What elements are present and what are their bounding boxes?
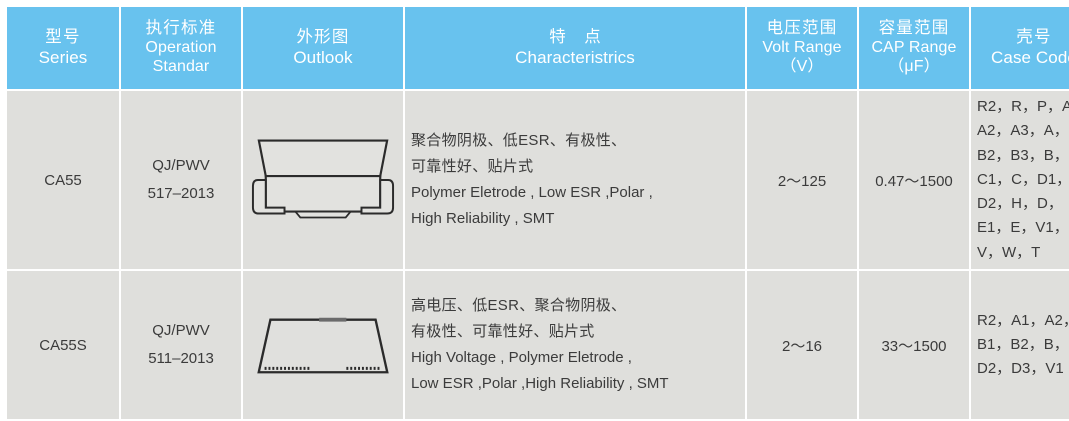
case-code-line: D2，H，D， xyxy=(977,192,1069,216)
column-header-volt-range-unit: （V） xyxy=(749,58,855,77)
cell-characteristics: 聚合物阴极、低ESR、有极性、 可靠性好、贴片式 Polymer Eletrod… xyxy=(405,91,745,269)
column-header-standard: 执行标准 Operation Standar xyxy=(121,7,241,89)
column-header-cap-range-en: CAP Range xyxy=(861,39,967,58)
cell-case-code: R2，A1，A2， B1，B2，B， D2，D3，V1 xyxy=(971,271,1069,419)
characteristics-line: 可靠性好、贴片式 xyxy=(411,154,739,180)
column-header-case-code: 壳号 Case Code xyxy=(971,7,1069,89)
cell-series: CA55 xyxy=(7,91,119,269)
standard-line: QJ/PWV xyxy=(127,317,235,345)
smd-chip-capacitor-3d-icon xyxy=(249,128,397,232)
characteristics-line: High Voltage , Polymer Eletrode , xyxy=(411,345,739,371)
table-body: CA55 QJ/PWV 517–2013 xyxy=(7,91,1069,419)
column-header-outlook-cn: 外形图 xyxy=(245,28,401,47)
characteristics-line: 高电压、低ESR、聚合物阴极、 xyxy=(411,293,739,319)
cell-outlook xyxy=(243,91,403,269)
standard-line: 517–2013 xyxy=(127,180,235,208)
column-header-standard-en2: Standar xyxy=(123,58,239,77)
column-header-outlook-en: Outlook xyxy=(245,48,401,68)
column-header-series: 型号 Series xyxy=(7,7,119,89)
characteristics-line: Polymer Eletrode , Low ESR ,Polar , xyxy=(411,180,739,206)
case-code-line: B1，B2，B， xyxy=(977,333,1069,357)
cell-outlook xyxy=(243,271,403,419)
column-header-series-en: Series xyxy=(9,48,117,68)
column-header-cap-range: 容量范围 CAP Range （μF） xyxy=(859,7,969,89)
cell-cap-range: 33～1500 xyxy=(859,271,969,419)
column-header-characteristics-cn: 特 点 xyxy=(407,28,743,47)
cell-case-code: R2，R，P，A1， A2，A3，A， B2，B3，B，I， C1，C，D1， … xyxy=(971,91,1069,269)
smd-chip-capacitor-top-icon xyxy=(249,303,397,387)
cell-standard: QJ/PWV 511–2013 xyxy=(121,271,241,419)
characteristics-line: High Reliability , SMT xyxy=(411,206,739,232)
header-row: 型号 Series 执行标准 Operation Standar 外形图 Out… xyxy=(7,7,1069,89)
column-header-case-code-en: Case Code xyxy=(973,48,1069,68)
cell-standard: QJ/PWV 517–2013 xyxy=(121,91,241,269)
column-header-standard-en: Operation xyxy=(123,39,239,58)
case-code-line: D2，D3，V1 xyxy=(977,357,1069,381)
column-header-characteristics: 特 点 Characteristrics xyxy=(405,7,745,89)
column-header-volt-range-cn: 电压范围 xyxy=(749,19,855,38)
outlook-image-wrap xyxy=(249,275,397,415)
column-header-standard-cn: 执行标准 xyxy=(123,19,239,38)
table-row: CA55 QJ/PWV 517–2013 xyxy=(7,91,1069,269)
column-header-outlook: 外形图 Outlook xyxy=(243,7,403,89)
characteristics-line: Low ESR ,Polar ,High Reliability , SMT xyxy=(411,371,739,397)
column-header-cap-range-cn: 容量范围 xyxy=(861,19,967,38)
column-header-volt-range: 电压范围 Volt Range （V） xyxy=(747,7,857,89)
case-code-line: A2，A3，A， xyxy=(977,119,1069,143)
cell-volt-range: 2～16 xyxy=(747,271,857,419)
case-code-line: V，W，T xyxy=(977,241,1069,265)
case-code-line: B2，B3，B，I， xyxy=(977,144,1069,168)
standard-line: 511–2013 xyxy=(127,345,235,373)
case-code-line: C1，C，D1， xyxy=(977,168,1069,192)
outlook-image-wrap xyxy=(249,95,397,265)
column-header-case-code-cn: 壳号 xyxy=(973,28,1069,47)
characteristics-line: 聚合物阴极、低ESR、有极性、 xyxy=(411,128,739,154)
cell-series: CA55S xyxy=(7,271,119,419)
case-code-line: R2，A1，A2， xyxy=(977,309,1069,333)
standard-line: QJ/PWV xyxy=(127,152,235,180)
characteristics-line: 有极性、可靠性好、贴片式 xyxy=(411,319,739,345)
column-header-volt-range-en: Volt Range xyxy=(749,39,855,58)
column-header-characteristics-en: Characteristrics xyxy=(407,48,743,68)
product-spec-table: 型号 Series 执行标准 Operation Standar 外形图 Out… xyxy=(5,5,1069,421)
case-code-line: R2，R，P，A1， xyxy=(977,95,1069,119)
column-header-cap-range-unit: （μF） xyxy=(861,58,967,77)
cell-characteristics: 高电压、低ESR、聚合物阴极、 有极性、可靠性好、贴片式 High Voltag… xyxy=(405,271,745,419)
cell-cap-range: 0.47～1500 xyxy=(859,91,969,269)
cell-volt-range: 2～125 xyxy=(747,91,857,269)
table-header: 型号 Series 执行标准 Operation Standar 外形图 Out… xyxy=(7,7,1069,89)
column-header-series-cn: 型号 xyxy=(9,28,117,47)
case-code-line: E1，E，V1， xyxy=(977,216,1069,240)
table-row: CA55S QJ/PWV 511–2013 xyxy=(7,271,1069,419)
